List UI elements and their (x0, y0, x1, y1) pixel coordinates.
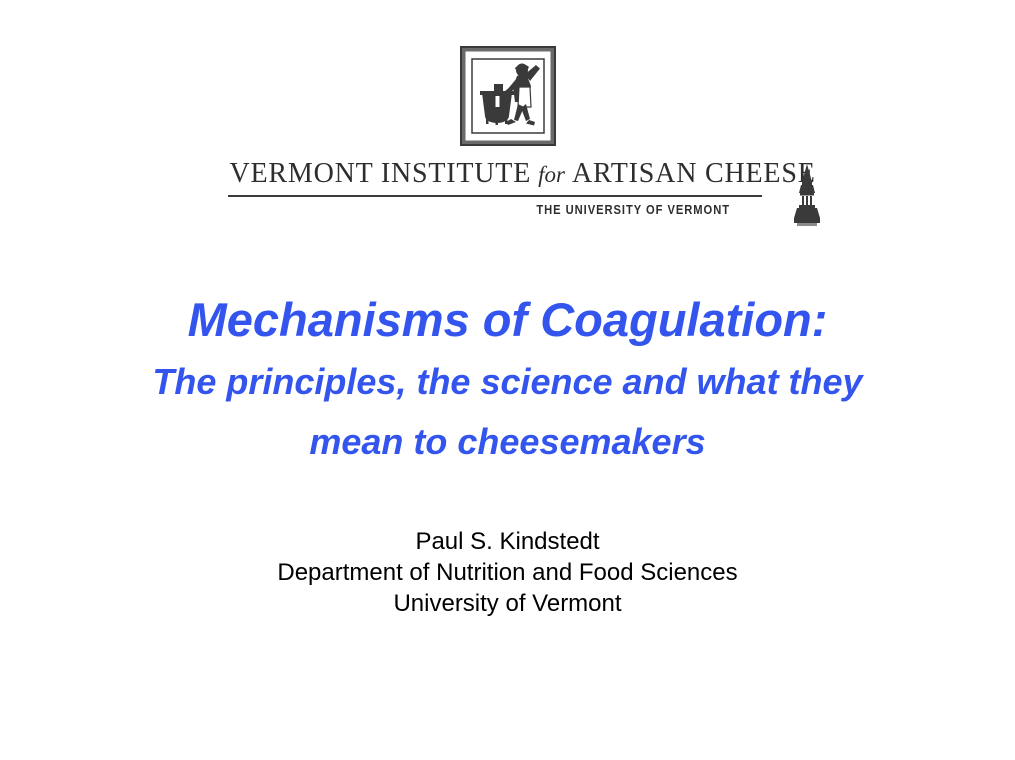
author-institution: University of Vermont (0, 588, 1015, 619)
slide-main-title: Mechanisms of Coagulation: (0, 292, 1015, 348)
slide-subtitle-line-2: mean to cheesemakers (108, 416, 908, 468)
author-department: Department of Nutrition and Food Science… (0, 557, 1015, 588)
wordmark-vermont-institute: VERMONT INSTITUTE (230, 160, 532, 188)
wordmark-text-row: VERMONT INSTITUTE for ARTISAN CHEESE (228, 160, 788, 188)
wordmark-for: for (531, 163, 572, 186)
presentation-slide: VERMONT INSTITUTE for ARTISAN CHEESE THE… (0, 0, 1015, 760)
wordmark-artisan-cheese: ARTISAN CHEESE (572, 160, 816, 188)
title-block: Mechanisms of Coagulation: The principle… (0, 292, 1015, 468)
wordmark-divider-rule (228, 195, 762, 197)
chapel-steeple-icon (790, 164, 824, 226)
wordmark: VERMONT INSTITUTE for ARTISAN CHEESE THE… (228, 160, 788, 217)
slide-subtitle-line-1: The principles, the science and what the… (108, 356, 908, 408)
vermont-institute-for-artisan-cheese-logo: VERMONT INSTITUTE for ARTISAN CHEESE THE… (0, 46, 1015, 217)
wordmark-tagline: THE UNIVERSITY OF VERMONT (298, 202, 730, 217)
author-block: Paul S. Kindstedt Department of Nutritio… (0, 526, 1015, 619)
author-name: Paul S. Kindstedt (0, 526, 1015, 557)
cheesemaker-logo-icon (460, 46, 556, 146)
